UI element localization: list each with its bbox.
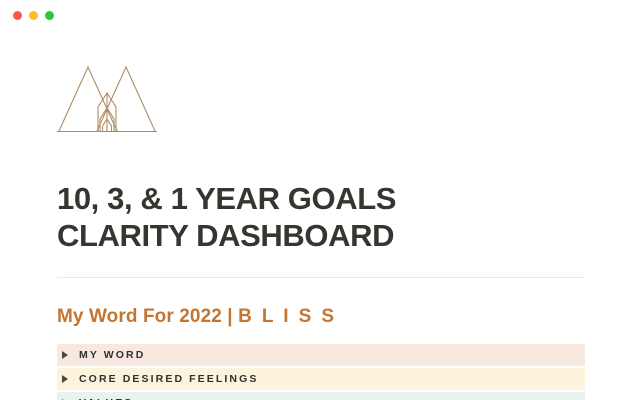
- minimize-window-button[interactable]: [29, 11, 38, 20]
- close-window-button[interactable]: [13, 11, 22, 20]
- page-body: 10, 3, & 1 YEAR GOALS CLARITY DASHBOARD …: [0, 57, 640, 400]
- page-content: 10, 3, & 1 YEAR GOALS CLARITY DASHBOARD …: [57, 57, 585, 400]
- triangle-right-icon[interactable]: [62, 351, 68, 359]
- window-titlebar: [0, 0, 640, 30]
- mountain-triangles-logo-icon: [57, 57, 157, 137]
- triangle-right-icon[interactable]: [62, 375, 68, 383]
- page-title: 10, 3, & 1 YEAR GOALS CLARITY DASHBOARD: [57, 137, 527, 254]
- app-window: 10, 3, & 1 YEAR GOALS CLARITY DASHBOARD …: [0, 0, 640, 400]
- toggle-label: MY WORD: [79, 349, 145, 361]
- toggle-row-core-desired-feelings[interactable]: CORE DESIRED FEELINGS: [57, 368, 585, 390]
- toggle-row-my-word[interactable]: MY WORD: [57, 344, 585, 366]
- toggle-label: CORE DESIRED FEELINGS: [79, 373, 258, 385]
- traffic-lights: [13, 11, 54, 20]
- toggle-row-values[interactable]: VALUES: [57, 392, 585, 400]
- toggle-list: MY WORD CORE DESIRED FEELINGS VALUES: [57, 344, 585, 400]
- section-heading: My Word For 2022 | B L I S S: [57, 278, 585, 328]
- maximize-window-button[interactable]: [45, 11, 54, 20]
- section-heading-word: B L I S S: [238, 306, 336, 327]
- section-heading-prefix: My Word For 2022 |: [57, 306, 238, 327]
